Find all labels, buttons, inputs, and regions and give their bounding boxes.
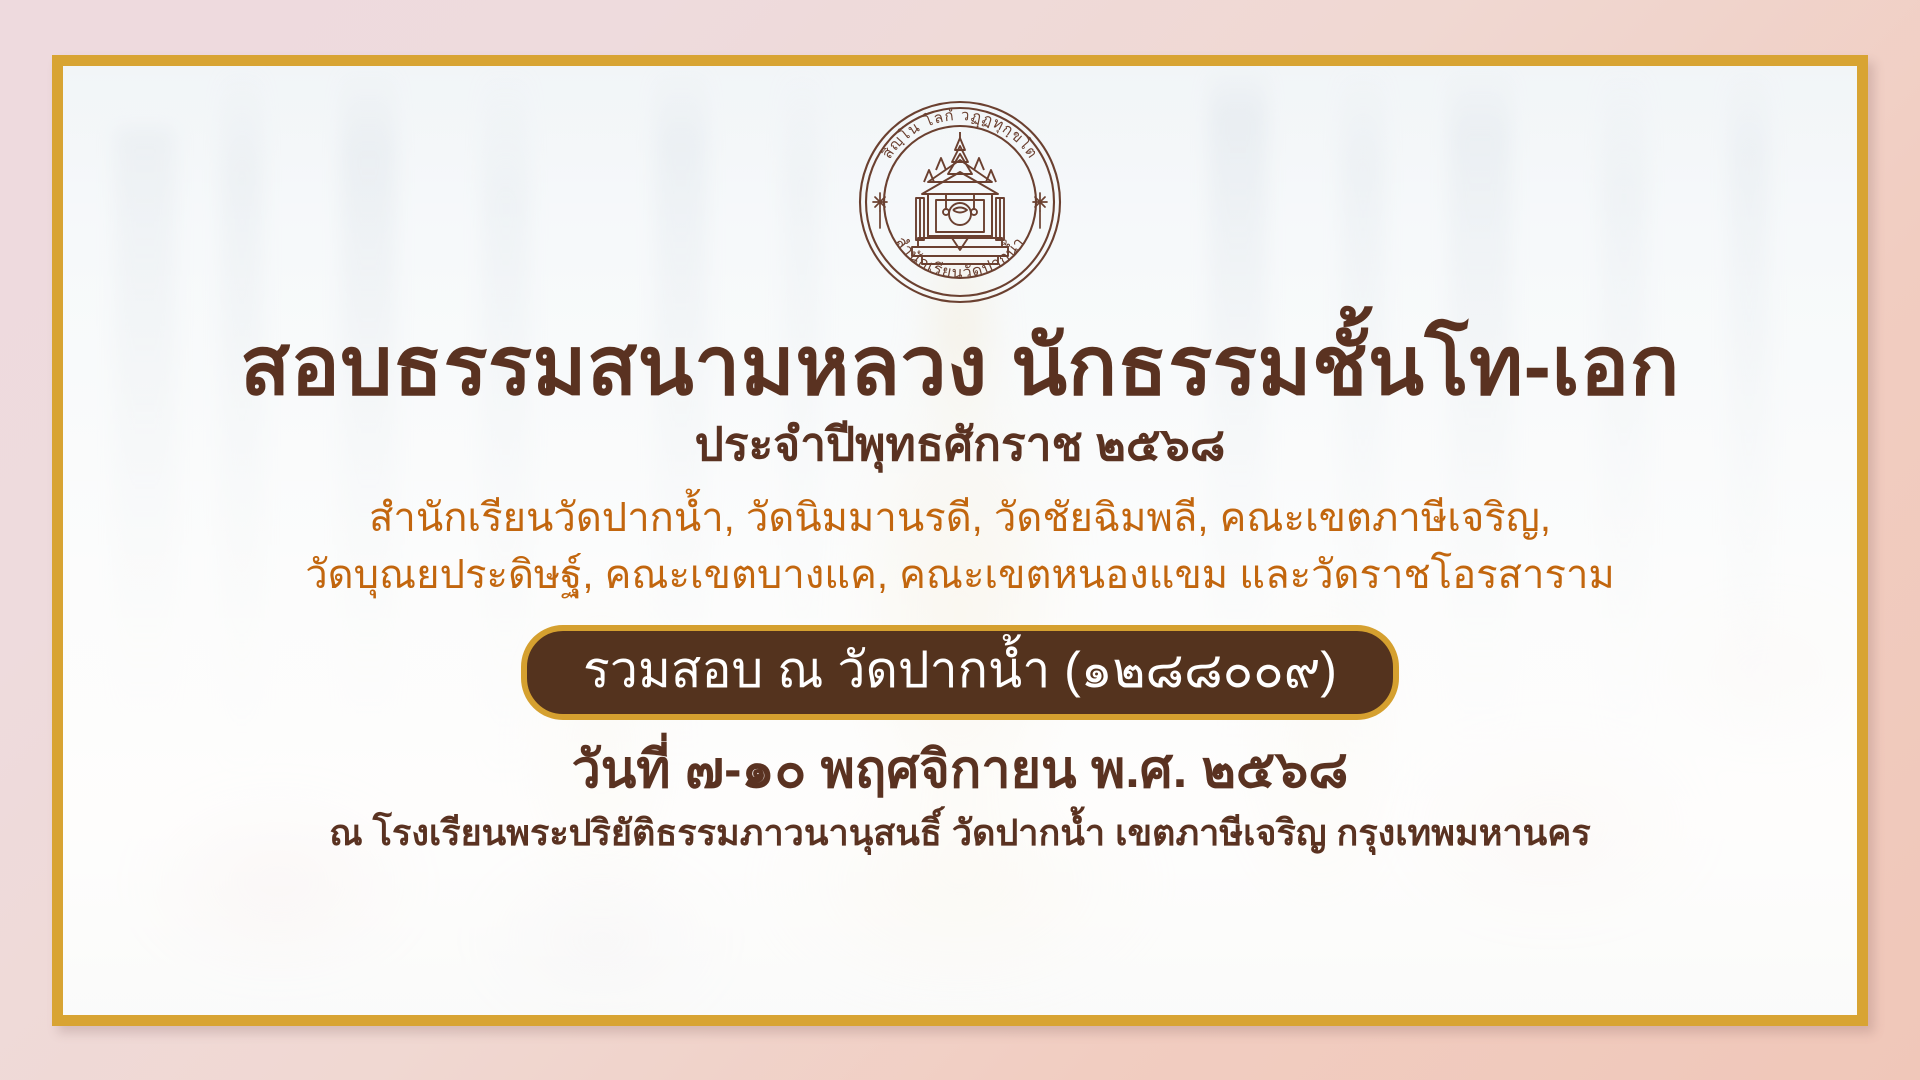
school-seal-icon: สิญฺโน โลกํ วฏฺฏทุกฺขโต สำนักเรียนวัดปาก…	[856, 98, 1064, 306]
page-title: สอบธรรมสนามหลวง นักธรรมชั้นโท-เอก	[240, 324, 1680, 409]
exam-location-line: ณ โรงเรียนพระปริยัติธรรมภาวนานุสนธิ์ วัด…	[329, 812, 1590, 853]
card-gold-frame: สิญฺโน โลกํ วฏฺฏทุกฺขโต สำนักเรียนวัดปาก…	[52, 55, 1868, 1026]
page-subtitle: ประจำปีพุทธศักราช ๒๕๖๘	[695, 419, 1226, 470]
poster-content: สิญฺโน โลกํ วฏฺฏทุกฺขโต สำนักเรียนวัดปาก…	[63, 66, 1857, 1015]
organization-line-2: วัดบุณยประดิษฐ์, คณะเขตบางแค, คณะเขตหนอง…	[305, 547, 1615, 604]
exam-date-line: วันที่ ๗-๑๐ พฤศจิกายน พ.ศ. ๒๕๖๘	[572, 742, 1349, 799]
organization-line-1: สำนักเรียนวัดปากน้ำ, วัดนิมมานรดี, วัดชั…	[305, 490, 1615, 547]
card-inner: สิญฺโน โลกํ วฏฺฏทุกฺขโต สำนักเรียนวัดปาก…	[63, 66, 1857, 1015]
venue-badge: รวมสอบ ณ วัดปากน้ำ (๑๒๘๘๐๐๙)	[521, 625, 1399, 720]
poster-root: สิญฺโน โลกํ วฏฺฏทุกฺขโต สำนักเรียนวัดปาก…	[0, 0, 1920, 1080]
organization-list: สำนักเรียนวัดปากน้ำ, วัดนิมมานรดี, วัดชั…	[305, 490, 1615, 604]
